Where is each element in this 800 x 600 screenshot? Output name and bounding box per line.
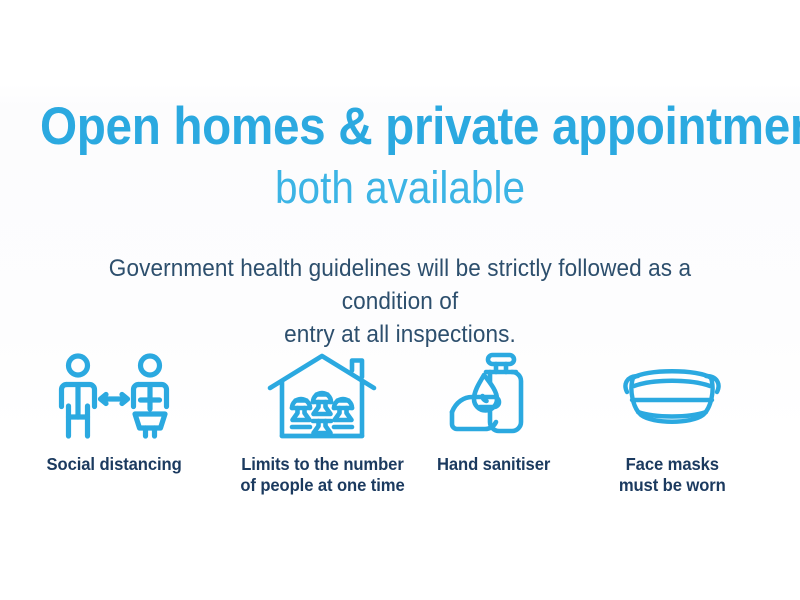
safety-measure-label: Face masks must be worn <box>616 454 729 496</box>
social-distancing-icon <box>49 352 179 444</box>
body-copy-line-2: entry at all inspections. <box>62 318 739 351</box>
safety-measures-row: Social distancing <box>0 352 800 512</box>
safety-measure-face-mask: Face masks must be worn <box>572 352 772 496</box>
label-line-2: must be worn <box>619 475 726 496</box>
safety-measure-occupancy-limit: Limits to the number of people at one ti… <box>222 352 422 496</box>
label-line-1: Social distancing <box>46 454 181 475</box>
covid-safety-poster: Open homes & private appointments both a… <box>0 0 800 600</box>
page-title: Open homes & private appointments <box>40 98 760 156</box>
page-subtitle: both available <box>40 162 760 214</box>
headline-block: Open homes & private appointments both a… <box>0 98 800 214</box>
body-copy-line-1: Government health guidelines will be str… <box>62 252 739 318</box>
safety-measure-label: Social distancing <box>43 454 185 475</box>
safety-measure-social-distancing: Social distancing <box>14 352 214 475</box>
safety-measure-hand-sanitiser: Hand sanitiser <box>394 352 594 475</box>
safety-measure-label: Limits to the number of people at one ti… <box>236 454 409 496</box>
label-line-1: Limits to the number <box>240 454 404 475</box>
label-line-1: Face masks <box>619 454 726 475</box>
label-line-2: of people at one time <box>240 475 404 496</box>
face-mask-icon <box>619 352 725 444</box>
safety-measure-label: Hand sanitiser <box>434 454 553 475</box>
hand-sanitiser-icon <box>446 352 542 444</box>
label-line-1: Hand sanitiser <box>437 454 550 475</box>
house-occupancy-limit-icon <box>266 352 378 444</box>
body-copy: Government health guidelines will be str… <box>40 252 760 351</box>
